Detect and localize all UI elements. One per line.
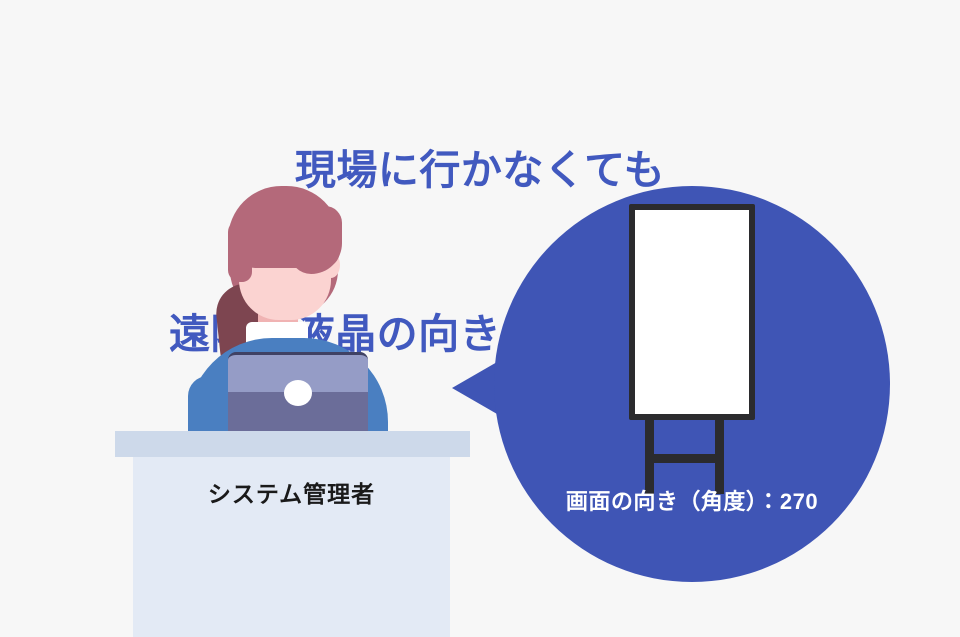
hair-side-shape <box>228 220 252 282</box>
system-administrator-label: システム管理者 <box>133 475 450 509</box>
signage-frame <box>629 204 755 420</box>
screen-orientation-caption: 画面の向き（角度）：270 <box>494 484 890 516</box>
digital-signage-display <box>629 204 755 420</box>
laptop-logo-icon <box>284 380 312 406</box>
desk-top-surface <box>115 431 470 457</box>
illustration-canvas: 現場に行かなくても 遠隔で液晶の向きが把握できる！ システム管理者 画面 <box>0 0 960 637</box>
signage-stand-crossbar <box>645 454 724 463</box>
system-administrator-illustration: システム管理者 <box>110 180 480 637</box>
signage-screen <box>635 210 749 414</box>
